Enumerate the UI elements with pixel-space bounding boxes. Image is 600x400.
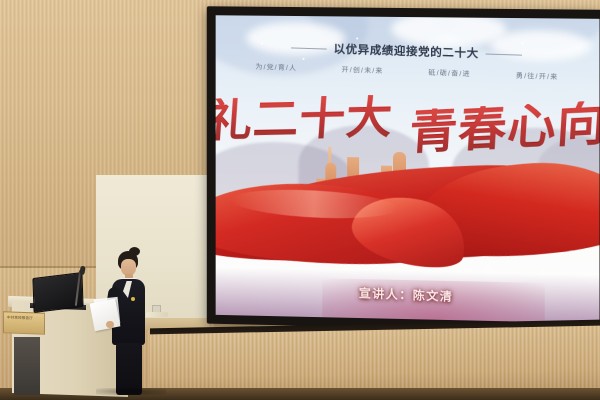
screenshot-root: 以优异成绩迎接党的二十大 为/党/育/人 开/创/未/来 砥/砺/奋/进 勇/往… <box>0 0 600 400</box>
slide-presenter-label: 宣讲人：陈文清 <box>359 284 453 305</box>
speaker-lapel-pin <box>131 297 135 301</box>
speech-papers <box>90 299 121 331</box>
speaker-floor-shadow <box>96 388 166 395</box>
stage-front-panel <box>150 326 600 397</box>
headline-part-2: 青春心向党 <box>408 98 600 158</box>
podium-plaque-text: 中共党校报告厅 <box>7 315 41 330</box>
led-display-screen[interactable]: 以优异成绩迎接党的二十大 为/党/育/人 开/创/未/来 砥/砺/奋/进 勇/往… <box>216 15 600 323</box>
header-rule-left <box>291 47 327 49</box>
subtitle-item-4: 勇/往/开/来 <box>516 71 559 83</box>
subtitle-item-3: 砥/砺/奋/进 <box>428 68 470 79</box>
subtitle-item-1: 为/党/育/人 <box>255 62 297 73</box>
subtitle-item-2: 开/创/未/来 <box>342 65 384 76</box>
headline-part-1: 献礼二十大 <box>216 94 395 145</box>
header-rule-right <box>486 53 522 55</box>
speaker-hand <box>106 321 114 328</box>
podium-equipment-bay <box>14 337 40 395</box>
speaker-figure <box>104 249 152 395</box>
led-display-bezel: 以优异成绩迎接党的二十大 为/党/育/人 开/创/未/来 砥/砺/奋/进 勇/往… <box>207 6 600 332</box>
podium-plaque: 中共党校报告厅 <box>3 311 45 334</box>
